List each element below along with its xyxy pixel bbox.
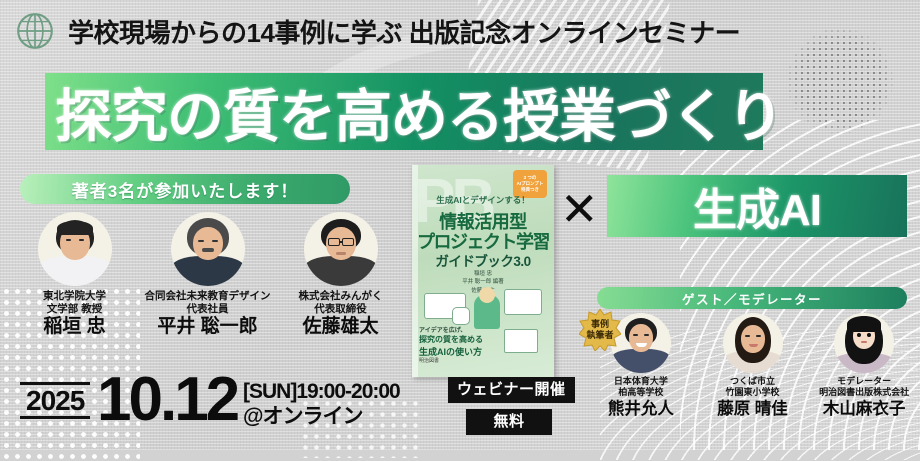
- event-time-wrapper: [SUN]19:00-20:00 @オンライン: [243, 379, 400, 429]
- authors-pill: 著者3名が参加いたします！: [20, 174, 350, 204]
- book-footer-line3: 生成AIの使い方: [419, 346, 483, 358]
- guest-card: モデレーター 明治図書出版株式会社 木山麻衣子: [808, 313, 920, 418]
- cross-symbol: ✕: [560, 186, 599, 232]
- guest-org-line2: 明治図書出版株式会社: [808, 387, 920, 398]
- event-year-wrapper: 2025: [20, 382, 90, 419]
- author-name: 平井 聡一郎: [141, 317, 274, 338]
- book-illustration-head: [479, 287, 495, 303]
- book-title-line3: ガイドブック3.0: [412, 250, 554, 270]
- svg-text:事例: 事例: [591, 318, 609, 329]
- author-org-line1: 合同会社未来教育デザイン: [141, 290, 274, 303]
- event-time: [SUN]19:00-20:00: [243, 379, 400, 404]
- author-card: 東北学院大学 文学部 教授 稲垣 忠: [8, 212, 141, 337]
- event-tags: ウェビナー開催 無料: [448, 377, 575, 435]
- author-name: 稲垣 忠: [8, 317, 141, 338]
- avatar: [723, 313, 783, 373]
- guests-list: 事例 執筆者 日本体育大学 柏高等学校 熊井允人: [585, 313, 920, 418]
- header: 学校現場からの14事例に学ぶ 出版記念オンラインセミナー: [14, 10, 740, 52]
- header-subtitle: 学校現場からの14事例に学ぶ 出版記念オンラインセミナー: [68, 13, 740, 50]
- avatar: [171, 212, 245, 286]
- author-card: 株式会社みんがく 代表取締役 佐藤雄太: [274, 212, 407, 337]
- guest-org-line1: つくば市立: [697, 376, 809, 387]
- guest-name: 熊井允人: [585, 400, 697, 419]
- guest-name: 木山麻衣子: [808, 400, 920, 419]
- book-illustration-laptop: [504, 329, 538, 353]
- event-place: @オンライン: [243, 404, 400, 429]
- page-title: 探究の質を高める授業づくり: [55, 66, 755, 158]
- tag-webinar: ウェビナー開催: [448, 377, 575, 403]
- svg-text:執筆者: 執筆者: [586, 329, 613, 340]
- guest-org-line1: 日本体育大学: [585, 376, 697, 387]
- case-author-badge: 事例 執筆者: [579, 309, 621, 351]
- guest-name: 藤原 晴佳: [697, 400, 809, 419]
- guests-pill: ゲスト／モデレーター: [597, 287, 907, 309]
- ai-band: 生成AI: [607, 175, 907, 237]
- globe-icon: [14, 10, 56, 52]
- book-footer-line2: 探究の質を高める: [419, 335, 483, 346]
- event-year: 2025: [20, 382, 90, 419]
- avatar: [834, 313, 894, 373]
- tag-free: 無料: [466, 409, 552, 435]
- ai-label: 生成AI: [693, 174, 821, 238]
- book-subtitle: 生成AIとデザインする！: [412, 194, 554, 206]
- book-publisher: 明治図書: [419, 358, 483, 365]
- authors-list: 東北学院大学 文学部 教授 稲垣 忠 合同会社未来教育デザイン 代表社員 平井 …: [8, 212, 408, 337]
- author-org-line2: 文学部 教授: [8, 303, 141, 316]
- author-org-line2: 代表社員: [141, 303, 274, 316]
- banner-stage: 学校現場からの14事例に学ぶ 出版記念オンラインセミナー 探究の質を高める授業づ…: [0, 0, 920, 450]
- avatar: [304, 212, 378, 286]
- book-illustration-robot: [452, 307, 470, 325]
- guests-pill-label: ゲスト／モデレーター: [682, 289, 822, 308]
- author-card: 合同会社未来教育デザイン 代表社員 平井 聡一郎: [141, 212, 274, 337]
- guest-org-line1: モデレーター: [808, 376, 920, 387]
- author-name: 佐藤雄太: [274, 317, 407, 338]
- guest-card: 事例 執筆者 日本体育大学 柏高等学校 熊井允人: [585, 313, 697, 418]
- event-month-day: 10.12: [97, 369, 237, 431]
- author-org-line2: 代表取締役: [274, 303, 407, 316]
- author-org-line1: 東北学院大学: [8, 290, 141, 303]
- guest-card: つくば市立 竹園東小学校 藤原 晴佳: [697, 313, 809, 418]
- authors-pill-label: 著者3名が参加いたします！: [72, 177, 298, 202]
- book-badge-line3: 特典つき: [521, 187, 539, 193]
- avatar: [38, 212, 112, 286]
- guest-org-line2: 竹園東小学校: [697, 387, 809, 398]
- dot-circle-decoration: [787, 28, 893, 134]
- author-org-line1: 株式会社みんがく: [274, 290, 407, 303]
- book-illustration-screen: [504, 289, 542, 315]
- book-cover: PB 3 つの AIプロンプト 特典つき 生成AIとデザインする！ 情報活用型 …: [412, 165, 554, 377]
- book-footer: アイデアを広げ、 探究の質を高める 生成AIの使い方 明治図書: [419, 327, 483, 365]
- guest-org-line2: 柏高等学校: [585, 387, 697, 398]
